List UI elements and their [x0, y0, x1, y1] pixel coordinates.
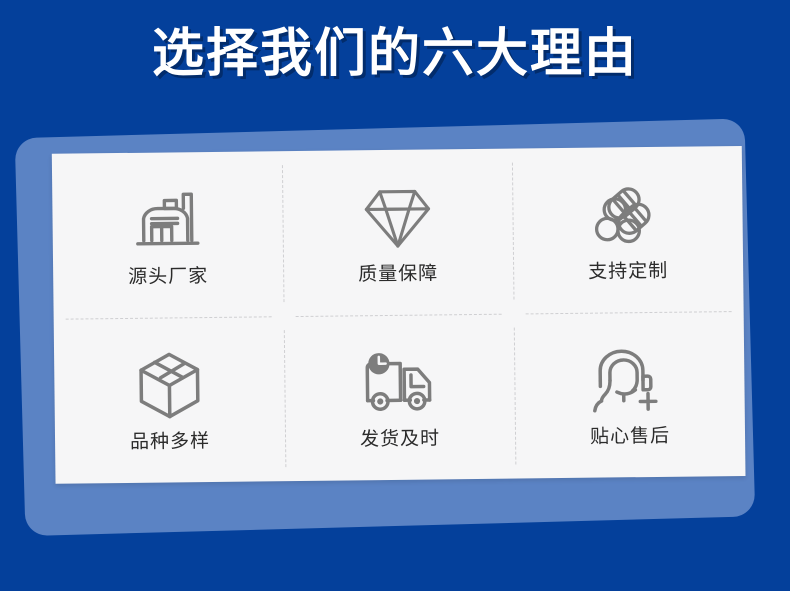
page-title: 选择我们的六大理由: [152, 26, 638, 83]
feature-item-fast-shipping[interactable]: 发货及时: [284, 314, 516, 482]
feature-label: 品种多样: [130, 432, 210, 452]
package-box-icon: [127, 348, 212, 423]
feature-label: 质量保障: [358, 264, 438, 284]
diamond-icon: [355, 180, 440, 255]
feature-card-group: 源头厂家 质量保障: [13, 118, 776, 538]
feature-card: 源头厂家 质量保障: [52, 146, 746, 484]
feature-item-after-sales[interactable]: 贴心售后: [514, 311, 746, 479]
feature-label: 支持定制: [588, 262, 668, 282]
feature-item-variety[interactable]: 品种多样: [54, 316, 286, 484]
feature-item-quality-guarantee[interactable]: 质量保障: [282, 149, 514, 317]
poster-stage: 选择我们的六大理由: [0, 0, 790, 591]
feature-label: 发货及时: [360, 429, 440, 449]
factory-icon: [125, 183, 210, 258]
feature-item-source-factory[interactable]: 源头厂家: [52, 151, 284, 319]
feature-grid: 源头厂家 质量保障: [52, 146, 746, 484]
feature-label: 源头厂家: [128, 267, 208, 287]
page-title-container: 选择我们的六大理由: [0, 26, 790, 83]
headset-support-plus-icon: [587, 343, 672, 418]
feature-label: 贴心售后: [590, 427, 670, 447]
logs-stack-icon: [585, 178, 670, 253]
feature-item-custom-support[interactable]: 支持定制: [512, 146, 744, 314]
delivery-truck-clock-icon: [357, 345, 442, 420]
